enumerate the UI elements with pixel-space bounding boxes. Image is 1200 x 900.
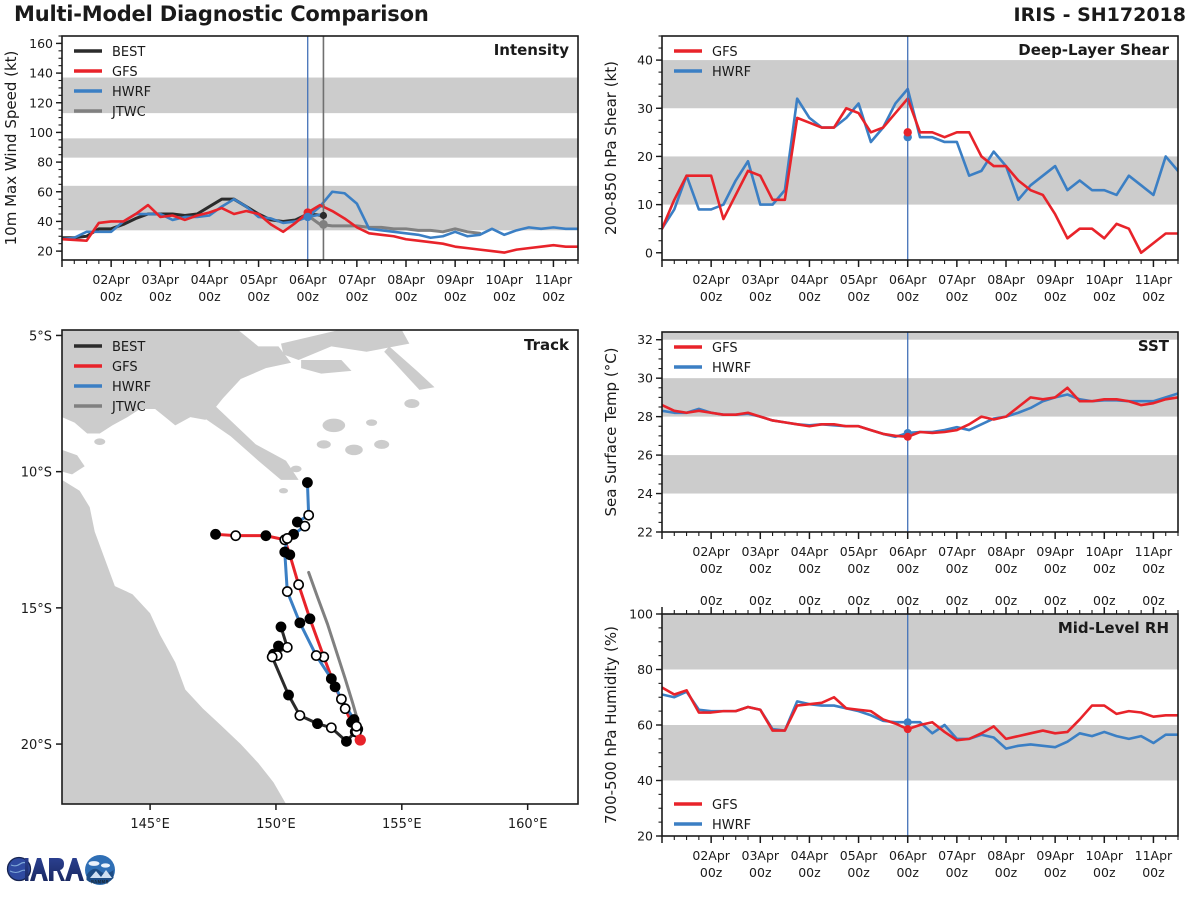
legend-label-hwrf: HWRF	[712, 361, 751, 376]
x-tick-label: 04Apr	[791, 272, 829, 287]
marker-best	[320, 212, 327, 219]
track-point-marker	[283, 643, 292, 652]
x-tick-sublabel: 00z	[749, 289, 772, 304]
track-point-marker	[300, 522, 309, 531]
x-tick-sublabel: 00z	[896, 865, 919, 880]
y-axis: 20406080100120140160	[29, 36, 62, 259]
x-tick-sublabel-top: 00z	[749, 593, 772, 608]
legend-label-best: BEST	[112, 45, 145, 60]
x-tick-label: 10Apr	[486, 272, 524, 287]
track-point-marker	[211, 530, 220, 539]
panel-tag-shear: Deep-Layer Shear	[1018, 41, 1169, 59]
lon-tick-label: 155°E	[382, 817, 422, 832]
y-tick-label: 20	[637, 149, 653, 164]
panel-tag-sst: SST	[1138, 337, 1170, 355]
legend-label-gfs: GFS	[112, 65, 138, 80]
x-tick-sublabel: 00z	[847, 561, 870, 576]
x-tick-sublabel: 00z	[1142, 289, 1165, 304]
x-tick-label: 03Apr	[142, 272, 180, 287]
x-tick-label: 10Apr	[1086, 272, 1124, 287]
track-point-marker	[342, 737, 351, 746]
x-tick-label: 09Apr	[436, 272, 474, 287]
y-tick-label: 40	[637, 773, 653, 788]
track-point-marker	[327, 674, 336, 683]
x-tick-label: 08Apr	[987, 272, 1025, 287]
x-tick-label: 08Apr	[987, 848, 1025, 863]
x-axis: 02Apr00z03Apr00z04Apr00z05Apr00z06Apr00z…	[662, 532, 1178, 576]
x-tick-label: 06Apr	[289, 272, 327, 287]
x-tick-sublabel: 00z	[542, 289, 565, 304]
x-tick-label: 02Apr	[92, 272, 130, 287]
x-tick-label: 11Apr	[1135, 848, 1173, 863]
track-point-marker	[295, 618, 304, 627]
legend-label-hwrf: HWRF	[712, 818, 751, 833]
track-point-marker	[352, 722, 361, 731]
x-tick-sublabel-top: 00z	[1093, 593, 1116, 608]
x-tick-label: 04Apr	[791, 848, 829, 863]
y-tick-label: 100	[29, 125, 53, 140]
track-point-marker	[305, 614, 314, 623]
track-point-marker	[327, 723, 336, 732]
y-tick-label: 100	[629, 607, 653, 622]
x-tick-sublabel: 00z	[198, 289, 221, 304]
x-tick-sublabel: 00z	[1093, 289, 1116, 304]
panel-tag-rh: Mid-Level RH	[1058, 619, 1169, 637]
x-tick-sublabel: 00z	[1142, 561, 1165, 576]
marker-jtwc	[319, 220, 328, 229]
x-tick-sublabel: 00z	[149, 289, 172, 304]
track-point-marker	[341, 704, 350, 713]
x-tick-sublabel: 00z	[995, 289, 1018, 304]
y-tick-label: 32	[637, 332, 653, 347]
y-tick-label: 160	[29, 36, 53, 51]
lat-tick-label: 20°S	[21, 738, 52, 753]
x-tick-sublabel-top: 00z	[700, 593, 723, 608]
track-point-marker	[312, 651, 321, 660]
x-tick-label: 07Apr	[338, 272, 376, 287]
x-tick-label: 11Apr	[535, 272, 573, 287]
x-tick-sublabel-top: 00z	[1142, 593, 1165, 608]
x-tick-sublabel: 00z	[946, 865, 969, 880]
y-tick-label: 20	[37, 244, 53, 259]
x-tick-label: 05Apr	[840, 848, 878, 863]
track-point-marker	[261, 531, 270, 540]
x-tick-label: 08Apr	[387, 272, 425, 287]
y-tick-label: 30	[637, 371, 653, 386]
x-tick-sublabel: 00z	[946, 561, 969, 576]
x-tick-sublabel: 00z	[995, 865, 1018, 880]
x-tick-sublabel: 00z	[847, 865, 870, 880]
x-tick-label: 05Apr	[840, 544, 878, 559]
reference-markers	[904, 429, 912, 441]
x-tick-sublabel: 00z	[1093, 561, 1116, 576]
x-tick-sublabel: 00z	[1044, 561, 1067, 576]
x-tick-label: 10Apr	[1086, 848, 1124, 863]
x-tick-label: 02Apr	[692, 848, 730, 863]
cira-wordmark	[8, 858, 85, 882]
x-tick-label: 05Apr	[840, 272, 878, 287]
x-tick-sublabel-top: 00z	[995, 593, 1018, 608]
legend-label-gfs: GFS	[112, 360, 138, 375]
track-point-marker	[294, 580, 303, 589]
y-tick-label: 60	[637, 718, 653, 733]
x-tick-sublabel: 00z	[749, 865, 772, 880]
x-tick-sublabel-top: 00z	[847, 593, 870, 608]
track-point-marker	[295, 711, 304, 720]
track-point-marker	[276, 622, 285, 631]
lon-tick-label: 145°E	[130, 817, 170, 832]
y-tick-label: 30	[637, 101, 653, 116]
panel-mid-level-rh: 2040608010002Apr00z03Apr00z04Apr00z05Apr…	[600, 592, 1200, 890]
x-tick-label: 06Apr	[889, 848, 927, 863]
y-axis: 222426283032	[637, 332, 662, 539]
track-point-marker	[283, 534, 292, 543]
y-tick-label: 20	[637, 829, 653, 844]
x-tick-sublabel-top: 00z	[798, 593, 821, 608]
track-point-marker	[304, 511, 313, 520]
x-tick-label: 11Apr	[1135, 544, 1173, 559]
y-axis: 010203040	[637, 36, 662, 260]
x-tick-sublabel: 00z	[896, 289, 919, 304]
lon-tick-label: 160°E	[508, 817, 548, 832]
x-tick-sublabel: 00z	[847, 289, 870, 304]
x-tick-label: 03Apr	[742, 272, 780, 287]
y-tick-label: 120	[29, 95, 53, 110]
track-point-marker	[274, 641, 283, 650]
y-axis-title: 700-500 hPa Humidity (%)	[602, 626, 620, 824]
y-tick-label: 24	[637, 486, 653, 501]
track-point-marker	[303, 478, 312, 487]
x-tick-sublabel-top: 00z	[1044, 593, 1067, 608]
x-tick-sublabel: 00z	[798, 865, 821, 880]
x-tick-label: 08Apr	[987, 544, 1025, 559]
panel-intensity: 2040608010012014016002Apr00z03Apr00z04Ap…	[0, 22, 600, 312]
x-tick-sublabel: 00z	[700, 865, 723, 880]
x-tick-label: 05Apr	[240, 272, 278, 287]
x-tick-sublabel: 00z	[700, 289, 723, 304]
y-tick-label: 0	[645, 245, 653, 260]
x-tick-sublabel-top: 00z	[896, 593, 919, 608]
x-tick-sublabel: 00z	[395, 289, 418, 304]
x-tick-label: 04Apr	[791, 544, 829, 559]
x-axis: 02Apr00z03Apr00z04Apr00z05Apr00z06Apr00z…	[662, 260, 1178, 304]
y-tick-label: 10	[637, 197, 653, 212]
y-tick-label: 22	[637, 525, 653, 540]
x-tick-sublabel: 00z	[700, 561, 723, 576]
y-tick-label: 60	[37, 184, 53, 199]
track-point-marker	[284, 690, 293, 699]
x-tick-label: 07Apr	[938, 544, 976, 559]
legend-label-hwrf: HWRF	[712, 65, 751, 80]
panel-tag-intensity: Intensity	[494, 41, 570, 59]
x-tick-sublabel: 00z	[749, 561, 772, 576]
lat-tick-label: 10°S	[21, 466, 52, 481]
x-tick-label: 11Apr	[1135, 272, 1173, 287]
y-axis-title: 10m Max Wind Speed (kt)	[2, 51, 20, 246]
x-tick-sublabel: 00z	[296, 289, 319, 304]
x-tick-sublabel: 00z	[493, 289, 516, 304]
x-tick-sublabel: 00z	[1142, 865, 1165, 880]
y-tick-label: 40	[637, 53, 653, 68]
track-point-marker	[280, 547, 289, 556]
legend-label-jtwc: JTWC	[111, 400, 146, 415]
x-tick-label: 03Apr	[742, 848, 780, 863]
lat-tick-label: 15°S	[21, 602, 52, 617]
lon-tick-label: 150°E	[256, 817, 296, 832]
x-tick-sublabel: 00z	[1044, 865, 1067, 880]
x-axis: 02Apr00z03Apr00z04Apr00z05Apr00z06Apr00z…	[62, 260, 578, 304]
marker-hwrf	[304, 213, 312, 221]
legend-label-jtwc: JTWC	[111, 105, 146, 120]
x-tick-label: 02Apr	[692, 272, 730, 287]
y-tick-label: 140	[29, 66, 53, 81]
track-point-marker	[313, 719, 322, 728]
x-tick-sublabel: 00z	[444, 289, 467, 304]
panel-sst: 22242628303202Apr00z03Apr00z04Apr00z05Ap…	[600, 322, 1200, 584]
track-point-marker	[337, 695, 346, 704]
y-axis-title: Sea Surface Temp (°C)	[602, 347, 620, 516]
track-point-marker	[268, 652, 277, 661]
legend-label-gfs: GFS	[712, 798, 738, 813]
rammb-badge: RAMMB	[85, 855, 115, 885]
x-tick-sublabel: 00z	[100, 289, 123, 304]
x-tick-label: 02Apr	[692, 544, 730, 559]
y-axis-title: 200-850 hPa Shear (kt)	[602, 61, 620, 235]
x-tick-label: 10Apr	[1086, 544, 1124, 559]
y-tick-label: 26	[637, 448, 653, 463]
panel-deep-layer-shear: 01020304002Apr00z03Apr00z04Apr00z05Apr00…	[600, 22, 1200, 312]
y-tick-label: 80	[37, 155, 53, 170]
legend-label-hwrf: HWRF	[112, 85, 151, 100]
x-tick-label: 09Apr	[1036, 544, 1074, 559]
x-tick-sublabel-top: 00z	[946, 593, 969, 608]
legend-label-hwrf: HWRF	[112, 380, 151, 395]
svg-text:RAMMB: RAMMB	[91, 880, 109, 885]
x-tick-label: 07Apr	[938, 272, 976, 287]
track-point-marker	[231, 531, 240, 540]
x-tick-sublabel: 00z	[247, 289, 270, 304]
x-tick-sublabel: 00z	[346, 289, 369, 304]
legend-label-gfs: GFS	[712, 45, 738, 60]
legend-label-best: BEST	[112, 340, 145, 355]
reference-markers	[904, 128, 912, 141]
lat-tick-label: 5°S	[29, 329, 52, 344]
panel-tag-track: Track	[524, 336, 570, 354]
x-tick-sublabel: 00z	[798, 561, 821, 576]
x-tick-sublabel: 00z	[995, 561, 1018, 576]
y-tick-label: 28	[637, 409, 653, 424]
x-tick-sublabel: 00z	[896, 561, 919, 576]
track-point-marker	[283, 587, 292, 596]
y-tick-label: 40	[37, 214, 53, 229]
x-tick-label: 04Apr	[191, 272, 229, 287]
x-tick-sublabel: 00z	[1093, 865, 1116, 880]
y-axis: 20406080100	[629, 607, 662, 844]
x-tick-sublabel: 00z	[946, 289, 969, 304]
legend-label-gfs: GFS	[712, 341, 738, 356]
cira-rammb-logo: RAMMB	[6, 848, 126, 894]
x-tick-label: 09Apr	[1036, 272, 1074, 287]
x-tick-sublabel: 00z	[1044, 289, 1067, 304]
x-tick-sublabel: 00z	[798, 289, 821, 304]
panel-track: 5°S10°S15°S20°S145°E150°E155°E160°ETrack…	[0, 322, 600, 852]
x-tick-label: 09Apr	[1036, 848, 1074, 863]
x-tick-label: 07Apr	[938, 848, 976, 863]
y-tick-label: 80	[637, 662, 653, 677]
x-tick-label: 06Apr	[889, 544, 927, 559]
current-position-marker	[355, 734, 366, 745]
x-tick-label: 03Apr	[742, 544, 780, 559]
x-tick-label: 06Apr	[889, 272, 927, 287]
